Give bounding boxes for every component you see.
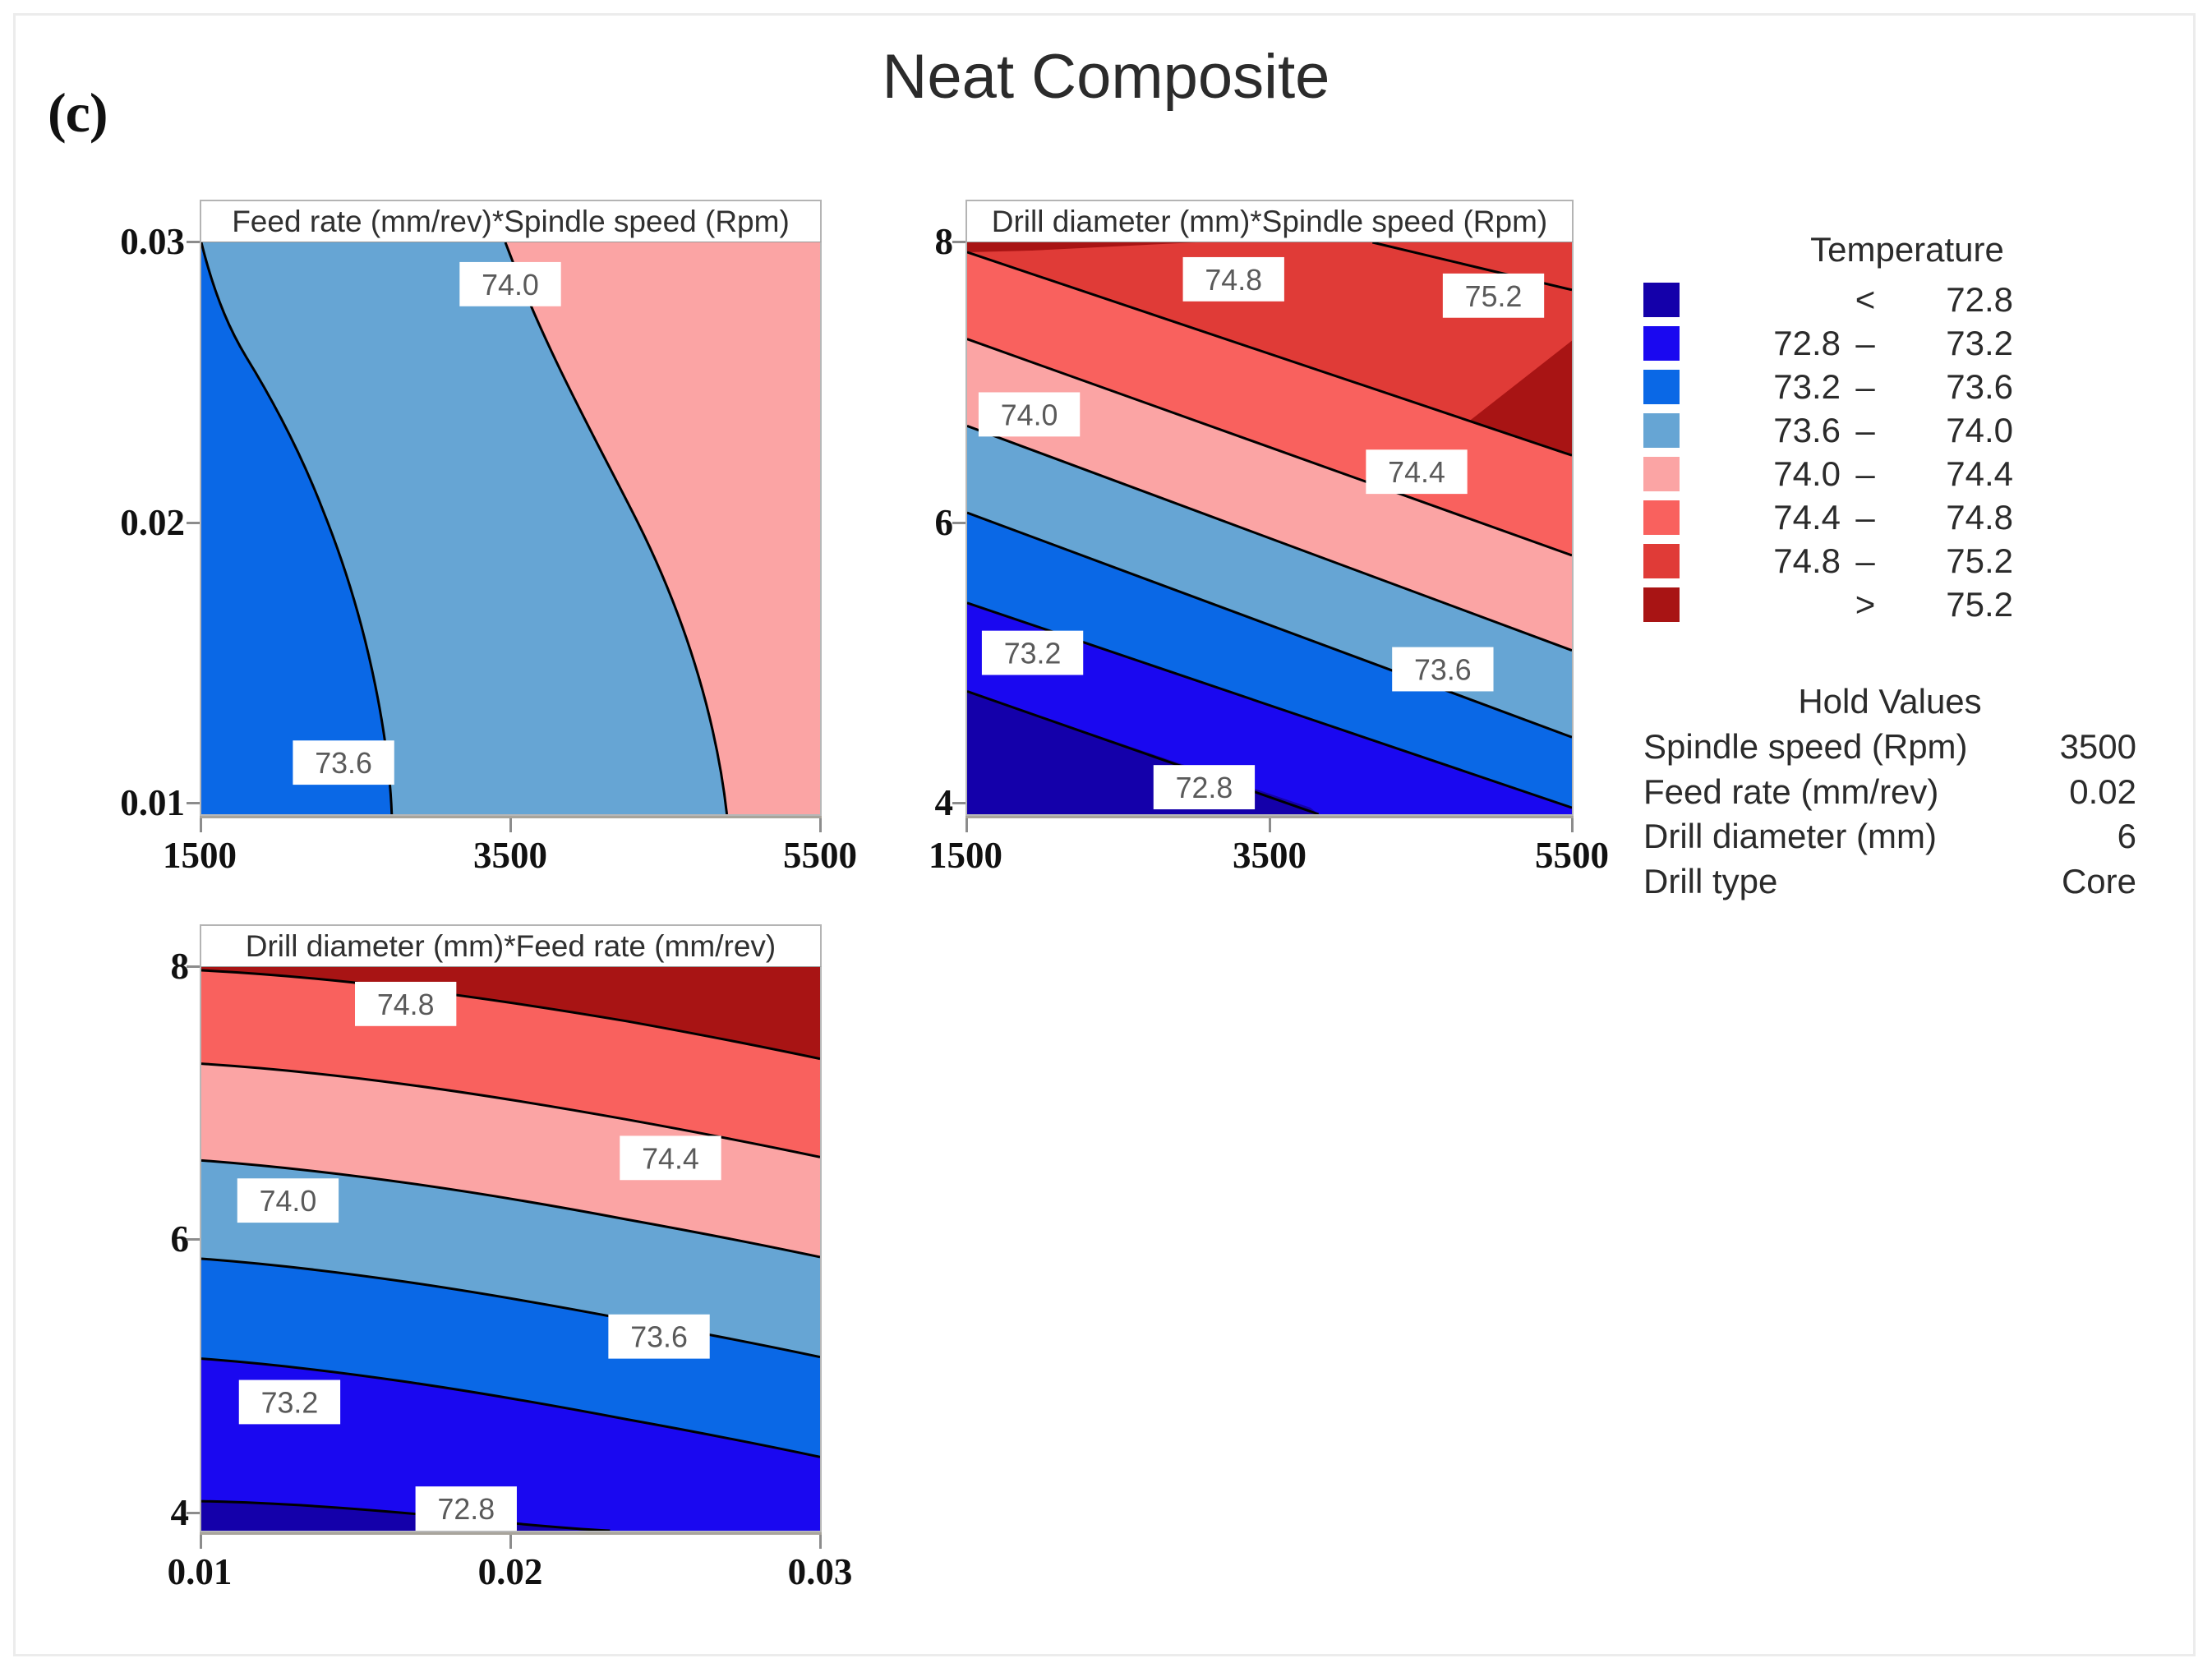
ytick-mark-p2-0 (952, 241, 965, 243)
legend-label: 74.8 – 75.2 (1717, 541, 2062, 581)
legend-swatch-73.6-74.0 (1643, 413, 1680, 448)
contour-svg-3: 74.8 74.4 74.0 73.6 73.2 72.8 (201, 967, 820, 1531)
contour-label-74.0-p1: 74.0 (459, 262, 560, 306)
panel-title-3: Drill diameter (mm)*Feed rate (mm/rev) (246, 929, 777, 964)
ytick-label-p2-0: 8 (871, 220, 953, 263)
ytick-label-p3-2: 4 (107, 1491, 189, 1534)
xtick-label-p2-0: 1500 (883, 834, 1048, 877)
hold-value: 0.02 (2069, 770, 2136, 815)
legend-op: – (1841, 367, 1890, 407)
legend-hi: 74.8 (1890, 498, 2013, 537)
legend-item: 74.0 – 74.4 (1643, 452, 2120, 495)
legend-op: – (1841, 411, 1890, 450)
ytick-label-p3-1: 6 (107, 1218, 189, 1260)
hold-value: 3500 (2060, 725, 2136, 770)
legend-swatch-72.8-73.2 (1643, 326, 1680, 361)
contour-label-74.0-p3: 74.0 (237, 1178, 339, 1223)
legend-swatch-74.0-74.4 (1643, 457, 1680, 491)
hold-label: Feed rate (mm/rev) (1643, 770, 1938, 815)
hold-label: Drill type (1643, 859, 1777, 905)
contour-label-74.4-p3: 74.4 (620, 1135, 721, 1180)
legend-swatch-74.8-75.2 (1643, 544, 1680, 578)
hold-value: 6 (2118, 814, 2136, 859)
svg-text:74.4: 74.4 (642, 1142, 699, 1175)
contour-label-72.8-p3: 72.8 (416, 1486, 517, 1531)
svg-text:75.2: 75.2 (1465, 280, 1523, 313)
xtick-mark-p1-0 (200, 818, 202, 832)
contour-label-74.8-p3: 74.8 (355, 982, 456, 1026)
hold-values-block: Hold Values Spindle speed (Rpm) 3500 Fee… (1643, 682, 2136, 904)
contour-label-75.2-p2: 75.2 (1443, 274, 1544, 318)
legend-lo: 73.6 (1717, 411, 1841, 450)
legend-swatch-73.2-73.6 (1643, 370, 1680, 404)
xtick-mark-p1-2 (819, 818, 822, 832)
legend-hi: 73.2 (1890, 324, 2013, 363)
legend-op: – (1841, 541, 1890, 581)
legend: Temperature < 72.8 72.8 – 73.2 73.2 – 73… (1643, 230, 2120, 626)
ytick-mark-p2-1 (952, 522, 965, 524)
hold-values-row: Drill diameter (mm) 6 (1643, 814, 2136, 859)
legend-hi: 74.4 (1890, 454, 2013, 494)
ytick-mark-p2-2 (952, 802, 965, 804)
xtick-label-p3-2: 0.03 (738, 1550, 902, 1593)
contour-panel-drilldiameter-spindlespeed: Drill diameter (mm)*Spindle speed (Rpm) (965, 200, 1574, 816)
ytick-label-p1-2: 0.01 (45, 781, 185, 824)
legend-lo: 74.4 (1717, 498, 1841, 537)
xtick-label-p2-1: 3500 (1187, 834, 1352, 877)
contour-label-73.6-p3: 73.6 (608, 1315, 709, 1359)
xtick-label-p1-2: 5500 (738, 834, 902, 877)
svg-text:73.6: 73.6 (1414, 653, 1472, 686)
contour-label-73.2-p3: 73.2 (239, 1380, 340, 1425)
panel-title-bar-3: Drill diameter (mm)*Feed rate (mm/rev) (200, 924, 822, 967)
svg-text:74.0: 74.0 (1001, 398, 1058, 431)
xtick-label-p2-2: 5500 (1490, 834, 1654, 877)
ytick-mark-p3-2 (187, 1512, 200, 1514)
ytick-label-p2-1: 6 (871, 501, 953, 544)
svg-text:73.2: 73.2 (261, 1386, 319, 1419)
contour-label-73.6-p1: 73.6 (293, 740, 394, 785)
hold-label: Drill diameter (mm) (1643, 814, 1937, 859)
legend-item: 73.2 – 73.6 (1643, 365, 2120, 408)
legend-title: Temperature (1694, 230, 2120, 269)
legend-hi: 74.0 (1890, 411, 2013, 450)
xtick-mark-p3-1 (509, 1535, 512, 1549)
legend-label: < 72.8 (1717, 280, 2062, 320)
legend-op: < (1841, 280, 1890, 320)
xtick-mark-p3-2 (819, 1535, 822, 1549)
plot-area-1: 74.0 73.6 (200, 242, 822, 816)
legend-hi: 75.2 (1890, 585, 2013, 624)
legend-item: 73.6 – 74.0 (1643, 408, 2120, 452)
legend-item: 74.8 – 75.2 (1643, 539, 2120, 583)
hold-values-row: Spindle speed (Rpm) 3500 (1643, 725, 2136, 770)
svg-text:72.8: 72.8 (1176, 772, 1233, 804)
svg-text:73.6: 73.6 (630, 1321, 688, 1354)
svg-text:73.6: 73.6 (315, 747, 372, 780)
ytick-label-p1-1: 0.02 (45, 501, 185, 544)
legend-label: 73.2 – 73.6 (1717, 367, 2062, 407)
ytick-label-p1-0: 0.03 (45, 220, 185, 263)
legend-swatch-lt-72.8 (1643, 283, 1680, 317)
legend-label: > 75.2 (1717, 585, 2062, 624)
svg-text:72.8: 72.8 (437, 1493, 495, 1526)
panel-title-bar-2: Drill diameter (mm)*Spindle speed (Rpm) (965, 200, 1574, 242)
contour-panel-feedrate-spindlespeed: Feed rate (mm/rev)*Spindle speed (Rpm) 7… (200, 200, 822, 816)
ytick-mark-p1-1 (187, 522, 200, 524)
svg-text:74.4: 74.4 (1388, 456, 1445, 489)
panel-title-bar-1: Feed rate (mm/rev)*Spindle speed (Rpm) (200, 200, 822, 242)
xtick-mark-p1-1 (509, 818, 512, 832)
contour-panel-drilldiameter-feedrate: Drill diameter (mm)*Feed rate (mm/rev) (200, 924, 822, 1532)
legend-op: – (1841, 454, 1890, 494)
contour-svg-1: 74.0 73.6 (201, 242, 820, 814)
plot-area-2: 74.8 75.2 74.0 74.4 73.2 73.6 (965, 242, 1574, 816)
svg-text:74.8: 74.8 (377, 988, 435, 1021)
svg-text:74.0: 74.0 (482, 269, 539, 302)
legend-lo: 72.8 (1717, 324, 1841, 363)
panel-title-1: Feed rate (mm/rev)*Spindle speed (Rpm) (232, 205, 790, 239)
contour-svg-2: 74.8 75.2 74.0 74.4 73.2 73.6 (967, 242, 1572, 814)
xtick-mark-p2-0 (965, 818, 968, 832)
legend-lo: 74.0 (1717, 454, 1841, 494)
ytick-label-p3-0: 8 (107, 945, 189, 988)
svg-text:73.2: 73.2 (1004, 638, 1062, 670)
hold-value: Core (2062, 859, 2136, 905)
contour-label-74.8-p2: 74.8 (1183, 257, 1284, 302)
hold-values-row: Feed rate (mm/rev) 0.02 (1643, 770, 2136, 815)
figure-title: Neat Composite (0, 41, 2212, 113)
legend-hi: 75.2 (1890, 541, 2013, 581)
xtick-label-p1-0: 1500 (118, 834, 282, 877)
legend-item: < 72.8 (1643, 278, 2120, 321)
legend-item: 72.8 – 73.2 (1643, 321, 2120, 365)
svg-text:74.0: 74.0 (260, 1185, 317, 1218)
ytick-label-p2-2: 4 (871, 781, 953, 824)
legend-op: > (1841, 585, 1890, 624)
svg-text:74.8: 74.8 (1205, 264, 1262, 297)
xtick-label-p3-1: 0.02 (428, 1550, 592, 1593)
legend-item: 74.4 – 74.8 (1643, 495, 2120, 539)
contour-label-72.8-p2: 72.8 (1154, 765, 1255, 809)
legend-op: – (1841, 498, 1890, 537)
xtick-mark-p2-2 (1571, 818, 1574, 832)
legend-label: 72.8 – 73.2 (1717, 324, 2062, 363)
xtick-mark-p3-0 (200, 1535, 202, 1549)
plot-area-3: 74.8 74.4 74.0 73.6 73.2 72.8 (200, 967, 822, 1532)
xtick-label-p3-0: 0.01 (118, 1550, 282, 1593)
hold-label: Spindle speed (Rpm) (1643, 725, 1968, 770)
panel-title-2: Drill diameter (mm)*Spindle speed (Rpm) (992, 205, 1547, 239)
legend-label: 74.0 – 74.4 (1717, 454, 2062, 494)
legend-swatch-gt-75.2 (1643, 587, 1680, 622)
ytick-mark-p3-0 (187, 965, 200, 968)
legend-label: 74.4 – 74.8 (1717, 498, 2062, 537)
legend-hi: 72.8 (1890, 280, 2013, 320)
legend-hi: 73.6 (1890, 367, 2013, 407)
legend-item: > 75.2 (1643, 583, 2120, 626)
xtick-mark-p2-1 (1269, 818, 1271, 832)
hold-values-title: Hold Values (1643, 682, 2136, 721)
legend-lo: 74.8 (1717, 541, 1841, 581)
contour-label-73.2-p2: 73.2 (982, 631, 1083, 675)
ytick-mark-p3-1 (187, 1238, 200, 1241)
ytick-mark-p1-2 (187, 802, 200, 804)
xtick-label-p1-1: 3500 (428, 834, 592, 877)
legend-op: – (1841, 324, 1890, 363)
legend-label: 73.6 – 74.0 (1717, 411, 2062, 450)
legend-swatch-74.4-74.8 (1643, 500, 1680, 535)
legend-lo: 73.2 (1717, 367, 1841, 407)
contour-label-74.0-p2: 74.0 (979, 392, 1080, 436)
contour-label-74.4-p2: 74.4 (1366, 449, 1467, 494)
hold-values-row: Drill type Core (1643, 859, 2136, 905)
ytick-mark-p1-0 (187, 241, 200, 243)
contour-label-73.6-p2: 73.6 (1392, 647, 1493, 692)
